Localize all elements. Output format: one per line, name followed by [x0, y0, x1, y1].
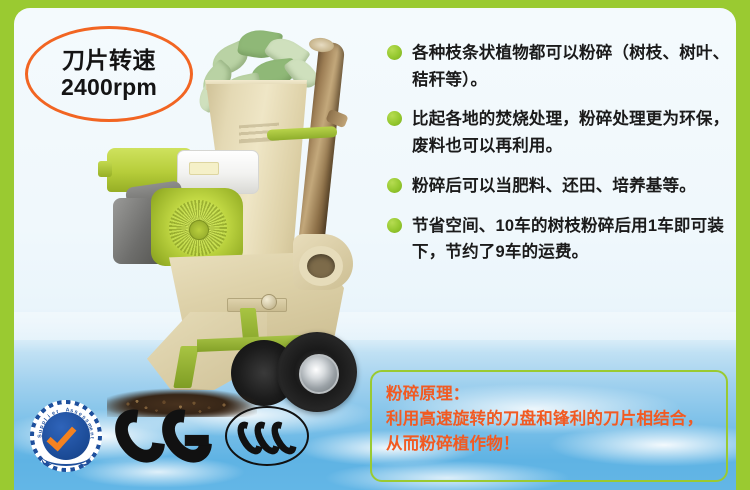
feature-item: 各种枝条状植物都可以粉碎（树枝、树叶、秸秆等）。: [387, 40, 732, 93]
product-banner: 刀片转速 2400rpm: [0, 0, 750, 490]
blade-speed-callout: 刀片转速 2400rpm: [25, 26, 193, 122]
engine-recoil-starter: [151, 188, 243, 266]
ccc-mark-icon: [225, 406, 309, 466]
feature-text: 节省空间、10车的树枝粉碎后用1车即可装下，节约了9车的运费。: [412, 213, 732, 266]
feature-text: 各种枝条状植物都可以粉碎（树枝、树叶、秸秆等）。: [412, 40, 732, 93]
certification-logos: Supplier Assessment: [30, 398, 309, 474]
supplier-assessment-seal-icon: Supplier Assessment: [30, 400, 102, 472]
bullet-dot-icon: [387, 111, 402, 126]
bullet-dot-icon: [387, 218, 402, 233]
callout-line-1: 刀片转速: [62, 47, 156, 74]
ce-mark-icon: [118, 407, 209, 465]
bullet-dot-icon: [387, 178, 402, 193]
callout-line-2: 2400rpm: [61, 74, 157, 101]
principle-line-1: 粉碎原理：: [386, 382, 726, 407]
banner-inner-panel: 刀片转速 2400rpm: [14, 8, 736, 490]
laurel-wreath-icon: [41, 444, 91, 466]
principle-note-box: 粉碎原理： 利用高速旋转的刀盘和锋利的刀片相结合， 从而粉碎植作物！: [370, 370, 728, 482]
feature-text: 比起各地的焚烧处理，粉碎处理更为环保，废料也可以再利用。: [412, 106, 732, 159]
ce-letter-e: [152, 400, 222, 473]
bullet-dot-icon: [387, 45, 402, 60]
principle-line-3: 从而粉碎植作物！: [386, 432, 726, 457]
hatch-knob: [261, 294, 277, 310]
access-hatch: [227, 298, 287, 312]
engine-warning-label: [189, 162, 219, 175]
spout-opening: [299, 246, 343, 286]
principle-line-2: 利用高速旋转的刀盘和锋利的刀片相结合，: [386, 407, 726, 432]
feature-item: 比起各地的焚烧处理，粉碎处理更为环保，废料也可以再利用。: [387, 106, 732, 159]
feature-item: 粉碎后可以当肥料、还田、培养基等。: [387, 173, 732, 200]
feature-list: 各种枝条状植物都可以粉碎（树枝、树叶、秸秆等）。 比起各地的焚烧处理，粉碎处理更…: [387, 40, 732, 279]
feature-item: 节省空间、10车的树枝粉碎后用1车即可装下，节约了9车的运费。: [387, 213, 732, 266]
feature-text: 粉碎后可以当肥料、还田、培养基等。: [412, 173, 696, 200]
